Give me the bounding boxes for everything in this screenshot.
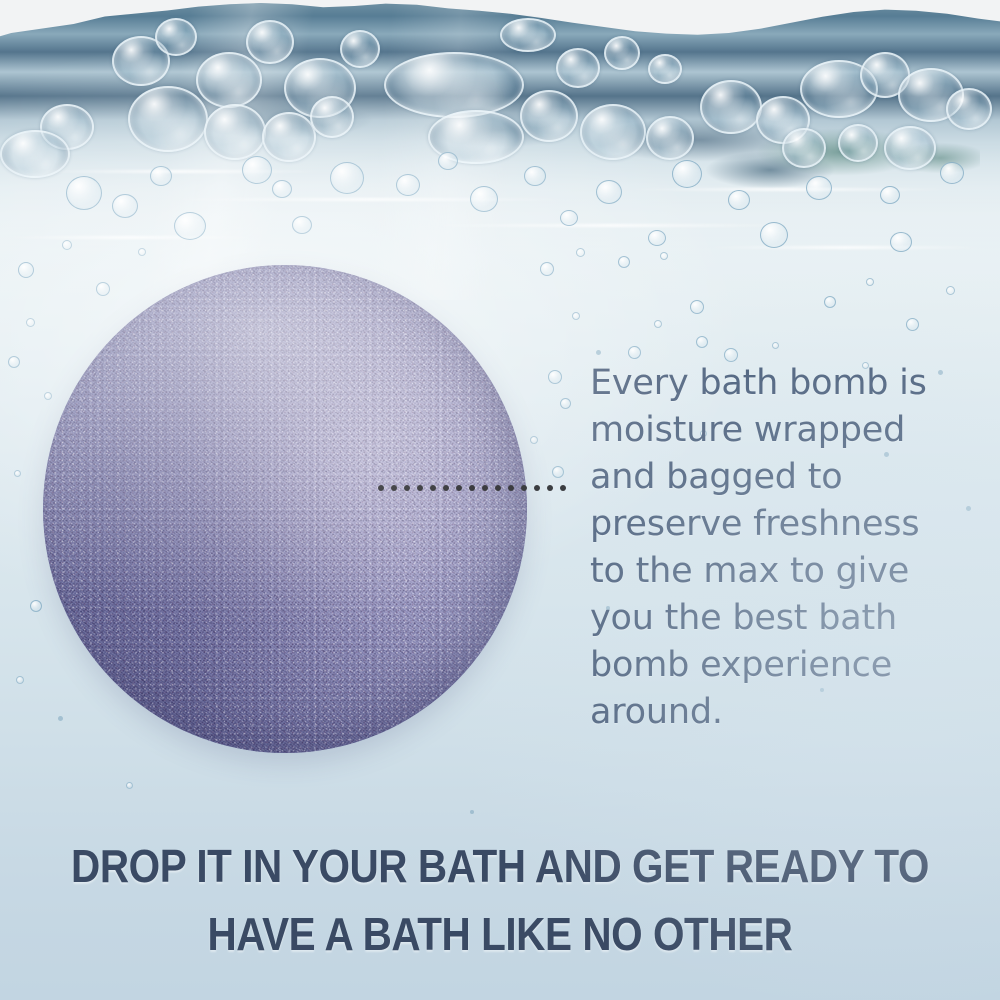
streak [700, 246, 990, 249]
bubble [946, 88, 992, 130]
bubble [628, 346, 641, 359]
bubble [672, 160, 702, 188]
bubble [30, 600, 42, 612]
bubble [560, 398, 571, 409]
leader-dot [430, 485, 436, 491]
bubble [646, 116, 694, 160]
bubble [242, 156, 272, 184]
bubble [760, 222, 788, 248]
bubble [824, 296, 836, 308]
leader-dot [417, 485, 423, 491]
bubble [906, 318, 919, 331]
product-banner: Every bath bomb is moisture wrapped and … [0, 0, 1000, 1000]
bubble [618, 256, 630, 268]
bath-bomb-rim [43, 265, 527, 753]
bubble [660, 252, 668, 260]
bubble [470, 186, 498, 212]
bubble [772, 342, 779, 349]
leader-dot [456, 485, 462, 491]
leader-dot [521, 485, 527, 491]
bubble [126, 782, 133, 789]
bubble [0, 130, 70, 178]
bubble [44, 392, 52, 400]
bubble [8, 356, 20, 368]
bubble [548, 370, 562, 384]
bubble [66, 176, 102, 210]
bubble [16, 676, 24, 684]
bubble [292, 216, 312, 234]
bubble [838, 124, 878, 162]
bubble [940, 162, 964, 184]
bubble [520, 90, 578, 142]
leader-dot [495, 485, 501, 491]
bubble [26, 318, 35, 327]
bubble [155, 18, 197, 56]
leader-dot [469, 485, 475, 491]
leader-dot [378, 485, 384, 491]
headline-line-2: HAVE A BATH LIKE NO OTHER [60, 900, 940, 968]
bubble [648, 230, 666, 246]
bubble [14, 470, 21, 477]
bubble [62, 240, 72, 250]
bubble [572, 312, 580, 320]
bath-bomb [43, 265, 527, 753]
streak [0, 236, 260, 239]
bubble [690, 300, 704, 314]
bubble [966, 506, 971, 511]
streak [30, 170, 330, 173]
bubble [884, 126, 936, 170]
bubble [946, 286, 955, 295]
bubble [576, 248, 585, 257]
bubble [524, 166, 546, 186]
bubble [112, 194, 138, 218]
bubble [552, 466, 564, 478]
bubble [596, 350, 601, 355]
headline: DROP IT IN YOUR BATH AND GET READY TO HA… [0, 832, 1000, 968]
bubble [138, 248, 146, 256]
bubble [396, 174, 420, 196]
leader-dot [404, 485, 410, 491]
bubble [246, 20, 294, 64]
bubble [96, 282, 110, 296]
streak [420, 224, 800, 227]
bubble [384, 52, 524, 118]
bubble [470, 810, 474, 814]
dotted-leader-line [378, 484, 570, 492]
bubble [648, 54, 682, 84]
bubble [530, 436, 538, 444]
leader-dot [443, 485, 449, 491]
bubble [204, 104, 266, 160]
bubble [556, 48, 600, 88]
bubble [782, 128, 826, 168]
bubble [18, 262, 34, 278]
bubble [128, 86, 208, 152]
bubble [604, 36, 640, 70]
bubble [340, 30, 380, 68]
streak [620, 188, 960, 191]
bubble [310, 96, 354, 138]
bubble [330, 162, 364, 194]
leader-dot [560, 485, 566, 491]
leader-dot [547, 485, 553, 491]
leader-dot [391, 485, 397, 491]
bubble [262, 112, 316, 162]
bubble [654, 320, 662, 328]
bubble [150, 166, 172, 186]
bubble [890, 232, 912, 252]
leader-dot [508, 485, 514, 491]
bubble [500, 18, 556, 52]
bubble [866, 278, 874, 286]
bubble [272, 180, 292, 198]
bubble [58, 716, 63, 721]
bubble [700, 80, 762, 134]
streak [160, 198, 580, 201]
bubble [596, 180, 622, 204]
headline-line-1: DROP IT IN YOUR BATH AND GET READY TO [60, 832, 940, 900]
bubble [806, 176, 832, 200]
body-copy: Every bath bomb is moisture wrapped and … [590, 360, 960, 736]
bubble [438, 152, 458, 170]
bubble [196, 52, 262, 108]
leader-dot [482, 485, 488, 491]
bubble [174, 212, 206, 240]
bubble [540, 262, 554, 276]
bubble [880, 186, 900, 204]
bubble [728, 190, 750, 210]
bubble [560, 210, 578, 226]
bubble [696, 336, 708, 348]
bubble [580, 104, 646, 160]
leader-dot [534, 485, 540, 491]
